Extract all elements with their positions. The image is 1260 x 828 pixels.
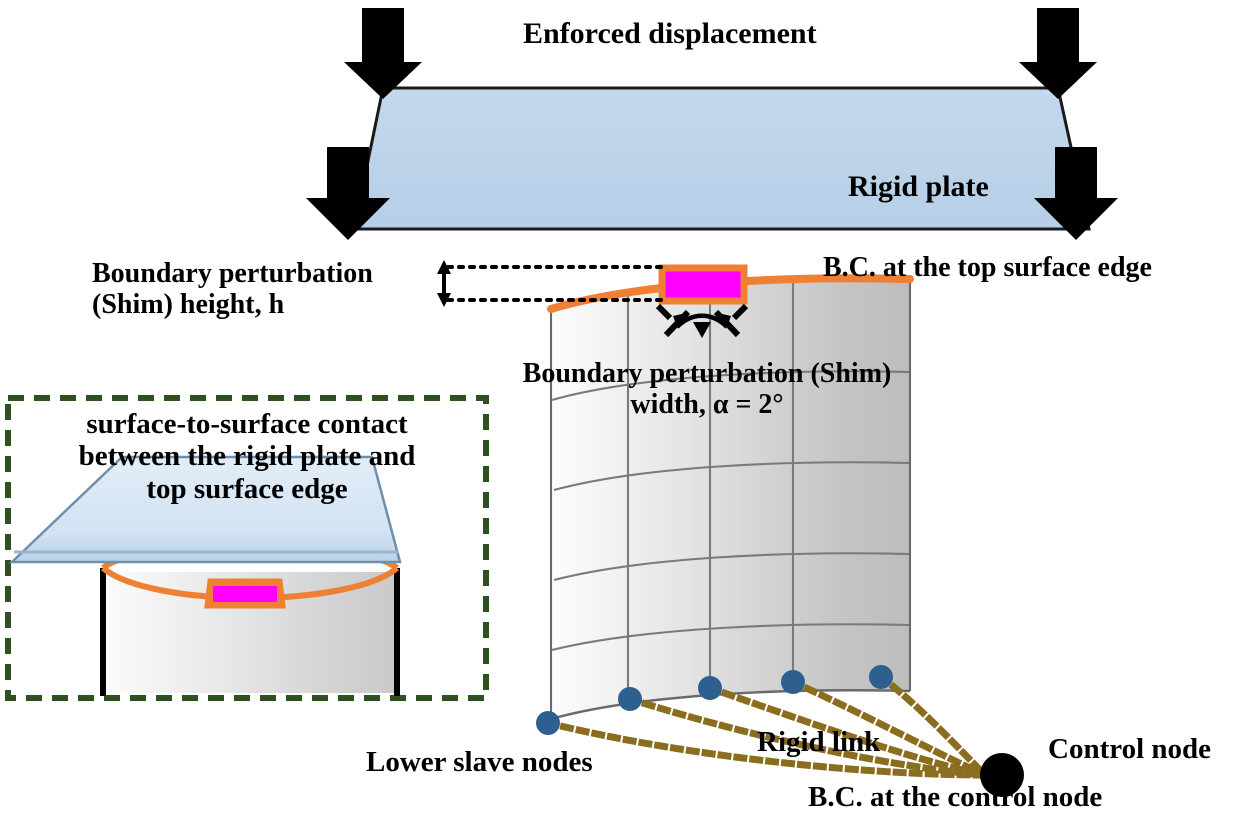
- label-shim-width-line1: Boundary perturbation (Shim): [497, 358, 917, 389]
- label-inset-caption-line1: surface-to-surface contact: [12, 408, 482, 440]
- slave-node: [781, 670, 805, 694]
- label-shim-height: Boundary perturbation (Shim) height, h: [92, 258, 373, 321]
- shim-group: [662, 268, 744, 301]
- slave-node: [869, 665, 893, 689]
- label-bc-top-surface-edge: B.C. at the top surface edge: [823, 252, 1152, 283]
- shim-height-dimension: [437, 260, 664, 307]
- label-shim-height-line1: Boundary perturbation: [92, 258, 373, 289]
- label-control-node: Control node: [1048, 733, 1211, 765]
- slave-node: [698, 676, 722, 700]
- label-inset-caption-line3: top surface edge: [12, 473, 482, 505]
- shim-block: [662, 268, 744, 301]
- label-inset-caption: surface-to-surface contact between the r…: [12, 408, 482, 505]
- label-shim-height-line2: (Shim) height, h: [92, 289, 373, 320]
- label-rigid-link: Rigid link: [757, 726, 880, 758]
- label-inset-caption-line2: between the rigid plate and: [12, 440, 482, 472]
- label-shim-width-line2: width, α = 2°: [497, 389, 917, 420]
- label-rigid-plate: Rigid plate: [848, 170, 989, 204]
- cylinder-body: [551, 278, 910, 719]
- label-shim-width: Boundary perturbation (Shim) width, α = …: [497, 358, 917, 421]
- slave-node: [536, 711, 560, 735]
- rigid-plate-shape: [354, 88, 1089, 229]
- label-lower-slave-nodes: Lower slave nodes: [366, 746, 593, 778]
- load-arrow-top-left: [344, 8, 422, 99]
- figure-canvas: Enforced displacement Rigid plate B.C. a…: [0, 0, 1260, 828]
- label-enforced-displacement: Enforced displacement: [523, 17, 817, 51]
- rigid-plate-group: [354, 88, 1089, 229]
- cylinder-mesh-group: [551, 278, 910, 719]
- slave-node: [618, 687, 642, 711]
- inset-shim-block: [213, 586, 277, 602]
- label-bc-control-node: B.C. at the control node: [808, 781, 1102, 813]
- load-arrow-top-right: [1019, 8, 1097, 99]
